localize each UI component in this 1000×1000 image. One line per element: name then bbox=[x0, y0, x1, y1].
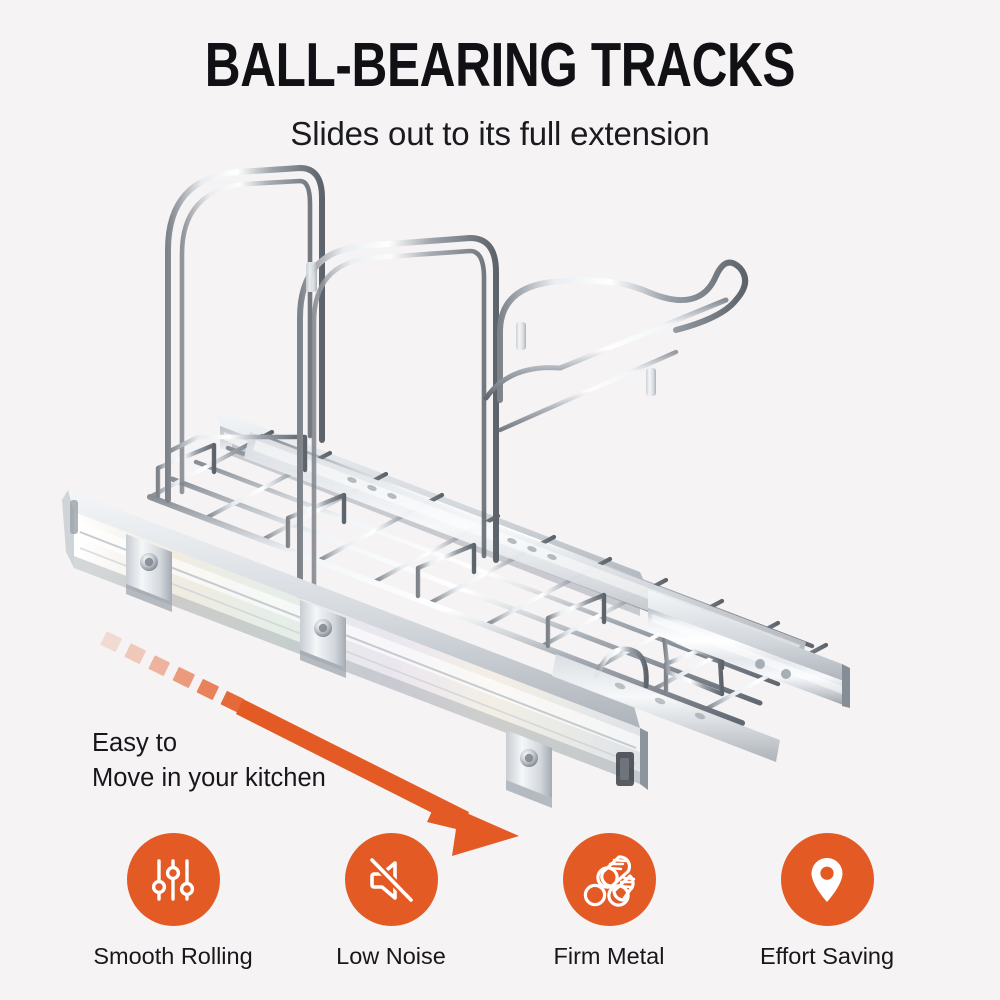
feature-item-low-noise[interactable]: Low Noise bbox=[296, 833, 486, 993]
hex-screw bbox=[140, 553, 158, 571]
feature-list: Smooth Rolling Low Noise bbox=[0, 833, 1000, 993]
feature-icon-badge bbox=[127, 833, 220, 926]
mounting-bracket bbox=[300, 600, 346, 678]
wire-divider-center bbox=[300, 238, 496, 600]
feature-icon-badge bbox=[563, 833, 656, 926]
hex-screw bbox=[314, 619, 332, 637]
feature-icon-badge bbox=[781, 833, 874, 926]
feature-label: Smooth Rolling bbox=[93, 943, 252, 970]
mounting-bracket bbox=[126, 534, 172, 612]
callout-line-2: Move in your kitchen bbox=[92, 761, 422, 796]
map-pin-icon bbox=[799, 852, 855, 908]
feature-item-firm-metal[interactable]: Firm Metal bbox=[514, 833, 704, 993]
product-marketing-banner: BALL-BEARING TRACKS Slides out to its fu… bbox=[0, 0, 1000, 1000]
metal-tubes-icon bbox=[579, 850, 639, 910]
basket-retainer-loops bbox=[158, 445, 722, 692]
callout-text: Easy to Move in your kitchen bbox=[92, 726, 422, 796]
callout-line-1: Easy to bbox=[92, 726, 422, 761]
page-subtitle: Slides out to its full extension bbox=[0, 115, 1000, 153]
sliders-icon bbox=[145, 852, 201, 908]
page-title-text: BALL-BEARING TRACKS bbox=[205, 34, 795, 97]
feature-icon-badge bbox=[345, 833, 438, 926]
page-title: BALL-BEARING TRACKS bbox=[0, 34, 1000, 97]
wire-mesh-basket-floor bbox=[150, 432, 826, 723]
wire-handle-right bbox=[486, 263, 745, 694]
feature-label: Low Noise bbox=[336, 943, 446, 970]
mute-speaker-icon bbox=[363, 852, 419, 908]
feature-item-smooth-rolling[interactable]: Smooth Rolling bbox=[78, 833, 268, 993]
wire-divider-left bbox=[168, 168, 322, 500]
ball-bearing-slide-rail-rear bbox=[212, 408, 648, 616]
basket-rear-plate bbox=[552, 654, 780, 762]
feature-label: Firm Metal bbox=[554, 943, 665, 970]
slide-rail-rear-extension bbox=[648, 590, 850, 708]
feature-label: Effort Saving bbox=[760, 943, 894, 970]
feature-item-effort-saving[interactable]: Effort Saving bbox=[732, 833, 922, 993]
hex-screw bbox=[520, 749, 538, 767]
mounting-bracket bbox=[506, 730, 552, 808]
